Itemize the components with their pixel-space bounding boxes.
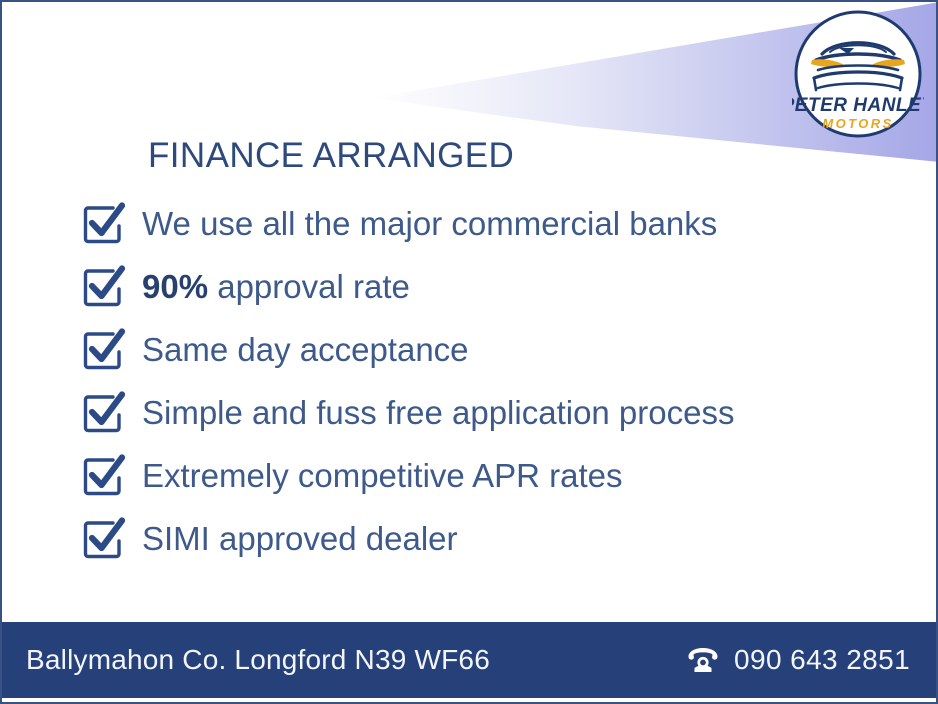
phone-contact[interactable]: 090 643 2851 <box>686 644 910 676</box>
telephone-icon <box>686 646 720 674</box>
list-item-label: Extremely competitive APR rates <box>142 459 623 492</box>
contact-footer: Ballymahon Co. Longford N39 WF66 090 643… <box>2 622 936 698</box>
checkbox-checked-icon <box>82 517 126 561</box>
brand-logo: PETER HANLEY MOTORS <box>792 8 924 140</box>
checkbox-checked-icon <box>82 391 126 435</box>
checkbox-checked-icon <box>82 454 126 498</box>
checkbox-checked-icon <box>82 202 126 246</box>
list-item: Simple and fuss free application process <box>82 381 882 444</box>
list-item-label: SIMI approved dealer <box>142 522 458 555</box>
list-item: Same day acceptance <box>82 318 882 381</box>
list-item-rest: approval rate <box>208 268 410 305</box>
list-item-label: Same day acceptance <box>142 333 469 366</box>
list-item-emphasis: 90% <box>142 268 208 305</box>
list-item: SIMI approved dealer <box>82 507 882 570</box>
page-title: FINANCE ARRANGED <box>148 136 514 176</box>
phone-number: 090 643 2851 <box>734 644 910 676</box>
list-item: Extremely competitive APR rates <box>82 444 882 507</box>
finance-banner: PETER HANLEY MOTORS FINANCE ARRANGED We … <box>0 0 938 704</box>
checkbox-checked-icon <box>82 328 126 372</box>
feature-list: We use all the major commercial banks 90… <box>82 192 882 570</box>
list-item-label: We use all the major commercial banks <box>142 207 717 240</box>
checkbox-checked-icon <box>82 265 126 309</box>
address-text: Ballymahon Co. Longford N39 WF66 <box>26 644 490 676</box>
list-item-label: Simple and fuss free application process <box>142 396 735 429</box>
list-item-label: 90% approval rate <box>142 270 410 303</box>
list-item: We use all the major commercial banks <box>82 192 882 255</box>
logo-name-top: PETER HANLEY <box>792 95 924 116</box>
logo-name-bottom: MOTORS <box>822 116 893 131</box>
list-item: 90% approval rate <box>82 255 882 318</box>
